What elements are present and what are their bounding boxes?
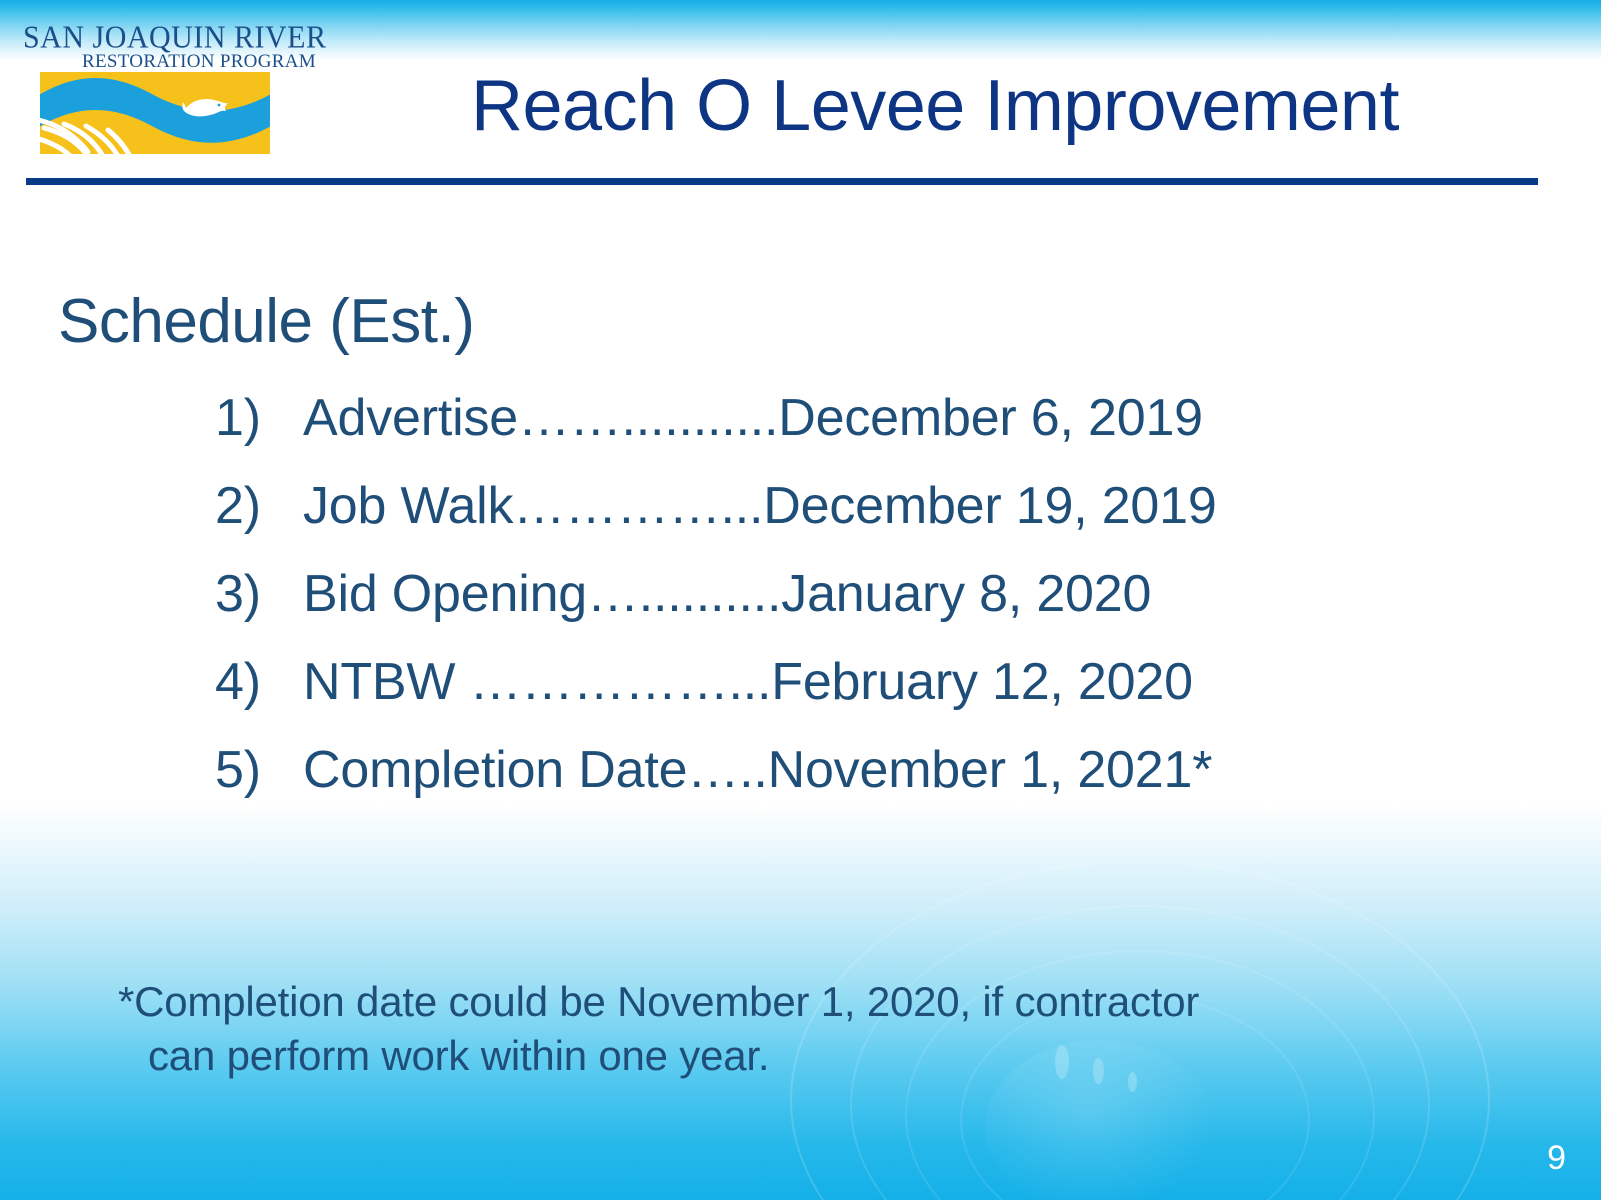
page-number: 9	[1547, 1139, 1566, 1178]
list-item-text: Advertise……...........December 6, 2019	[303, 388, 1203, 448]
list-item: 1) Advertise……...........December 6, 201…	[215, 388, 1555, 476]
footnote: *Completion date could be November 1, 20…	[118, 975, 1518, 1083]
river-fish-logo-icon	[40, 72, 270, 154]
list-item-number: 1)	[215, 388, 303, 448]
list-item-number: 5)	[215, 740, 303, 800]
slide-body: Schedule (Est.) 1) Advertise……..........…	[0, 200, 1601, 1200]
list-item-number: 4)	[215, 652, 303, 712]
logo-secondary-text: RESTORATION PROGRAM	[82, 51, 316, 73]
footnote-line-1: *Completion date could be November 1, 20…	[118, 978, 1199, 1025]
list-item: 3) Bid Opening…..........January 8, 2020	[215, 564, 1555, 652]
slide-title: Reach O Levee Improvement	[300, 58, 1570, 154]
list-item-number: 3)	[215, 564, 303, 624]
list-item-number: 2)	[215, 476, 303, 536]
list-item-text: NTBW ……………...February 12, 2020	[303, 652, 1193, 712]
header-divider-rule	[26, 178, 1538, 185]
organization-logo: SAN JOAQUIN RIVER RESTORATION PROGRAM	[22, 6, 270, 154]
list-item-text: Completion Date…..November 1, 2021*	[303, 740, 1212, 800]
presentation-slide: SAN JOAQUIN RIVER RESTORATION PROGRAM	[0, 0, 1601, 1200]
list-item: 4) NTBW ……………...February 12, 2020	[215, 652, 1555, 740]
list-item: 2) Job Walk…………...December 19, 2019	[215, 476, 1555, 564]
list-item-text: Bid Opening…..........January 8, 2020	[303, 564, 1151, 624]
list-item-text: Job Walk…………...December 19, 2019	[303, 476, 1217, 536]
schedule-list: 1) Advertise……...........December 6, 201…	[215, 388, 1555, 828]
slide-header: SAN JOAQUIN RIVER RESTORATION PROGRAM	[0, 0, 1601, 200]
footnote-line-2: can perform work within one year.	[118, 1029, 1518, 1083]
section-heading: Schedule (Est.)	[58, 286, 474, 357]
list-item: 5) Completion Date…..November 1, 2021*	[215, 740, 1555, 828]
